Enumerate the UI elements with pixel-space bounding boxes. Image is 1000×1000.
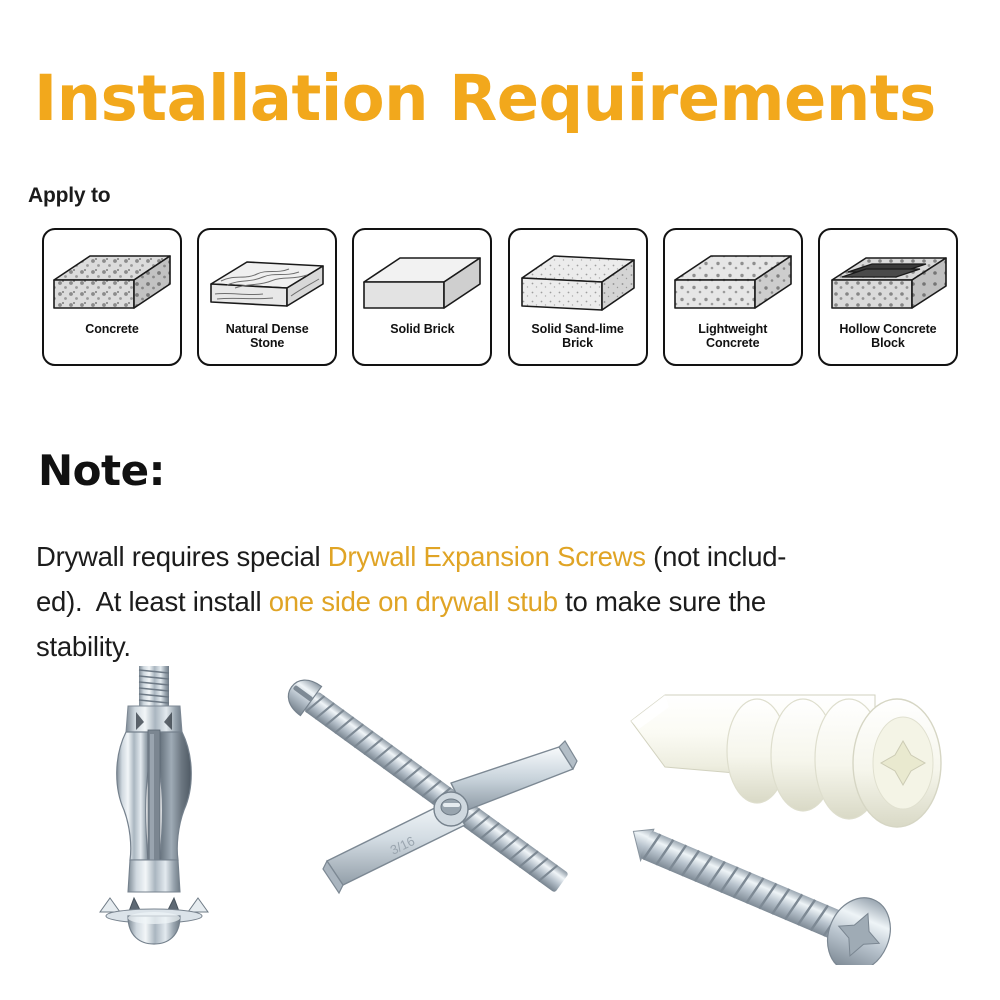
note-line1-highlight: Drywall Expansion Screws: [328, 541, 646, 572]
material-label: Concrete: [81, 322, 142, 336]
hollow-concrete-block-icon: [822, 236, 954, 322]
note-line1-part2: (not includ-: [646, 541, 786, 572]
pan-head-screw-icon: [625, 803, 901, 965]
note-line2-part1: ed). At least install: [36, 586, 269, 617]
material-card-lightweight-concrete: Lightweight Concrete: [663, 228, 803, 366]
material-label: Natural Dense Stone: [222, 322, 313, 350]
material-label: Hollow Concrete Block: [835, 322, 940, 350]
molly-bolt-anchor-photo: [70, 660, 240, 950]
material-label: Solid Brick: [386, 322, 458, 336]
solid-brick-icon: [356, 236, 488, 322]
material-list: Concrete Natural Dense Stone Solid Brick: [42, 228, 958, 368]
product-photo-row: 3/16: [0, 655, 1000, 1000]
note-line2-part2: to make sure the: [558, 586, 766, 617]
plastic-anchor-and-screw-photo: [625, 655, 995, 965]
plastic-anchor-icon: [631, 695, 941, 827]
material-card-solid-brick: Solid Brick: [352, 228, 492, 366]
toggle-bolt-photo: 3/16: [265, 665, 605, 935]
material-card-natural-dense-stone: Natural Dense Stone: [197, 228, 337, 366]
material-card-hollow-concrete-block: Hollow Concrete Block: [818, 228, 958, 366]
note-line2-highlight: one side on drywall stub: [269, 586, 558, 617]
note-line1-part1: Drywall requires special: [36, 541, 328, 572]
lightweight-concrete-icon: [667, 236, 799, 322]
sand-lime-brick-icon: [512, 236, 644, 322]
natural-stone-icon: [201, 236, 333, 322]
material-card-solid-sand-lime-brick: Solid Sand-lime Brick: [508, 228, 648, 366]
page-title: Installation Requirements: [34, 64, 975, 134]
note-body: Drywall requires special Drywall Expansi…: [36, 534, 976, 669]
apply-to-label: Apply to: [28, 184, 110, 208]
material-card-concrete: Concrete: [42, 228, 182, 366]
concrete-block-icon: [46, 236, 178, 322]
note-heading: Note:: [38, 446, 165, 495]
material-label: Solid Sand-lime Brick: [527, 322, 627, 350]
material-label: Lightweight Concrete: [694, 322, 771, 350]
